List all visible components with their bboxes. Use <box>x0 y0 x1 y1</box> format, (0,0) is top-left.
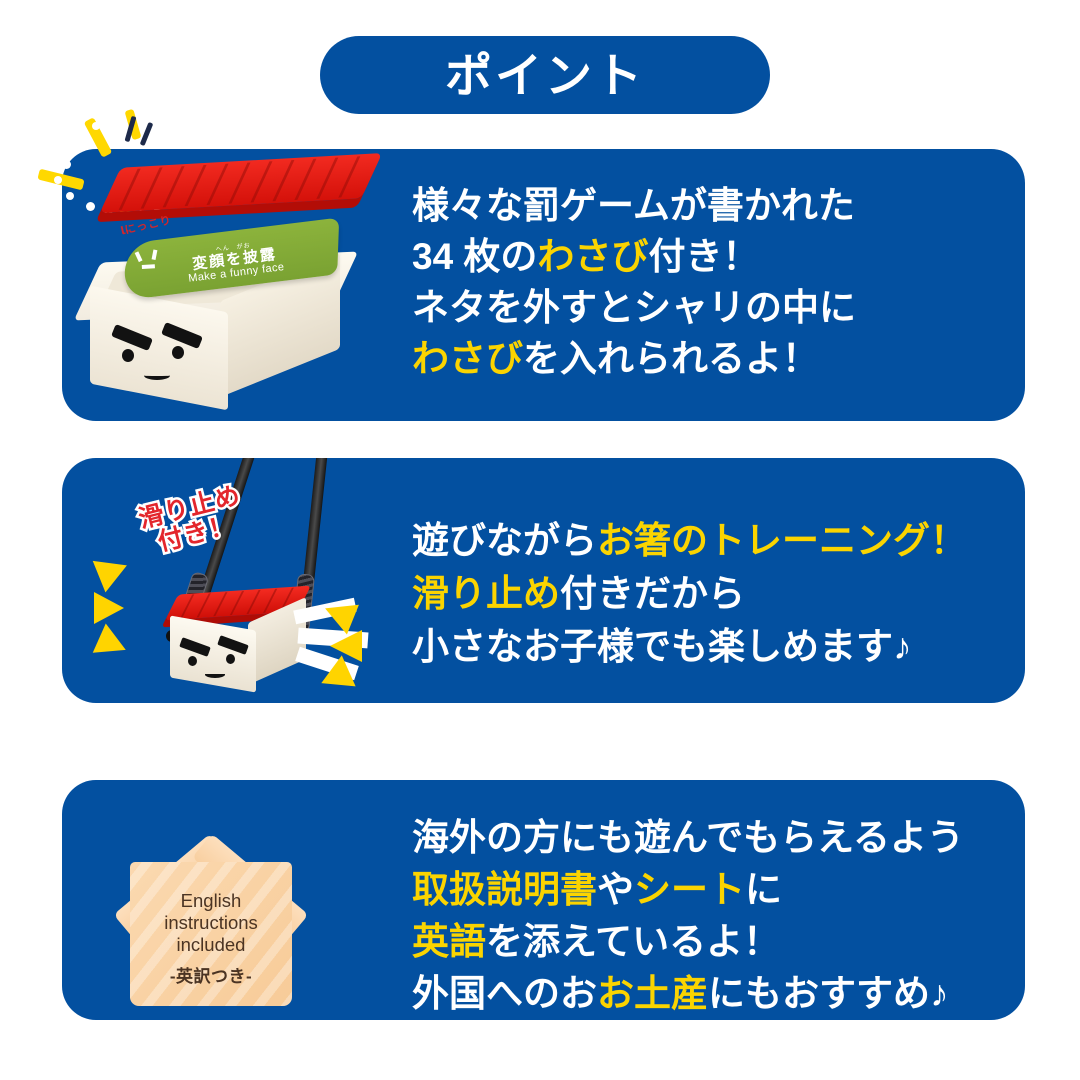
plain-phrase: や <box>597 869 634 910</box>
badge-line-2: instructions <box>130 912 292 934</box>
point-3-line-4: 外国へのおお土産にもおすすめ♪ <box>412 968 964 1020</box>
plain-phrase: 小さなお子様でも楽しめます♪ <box>412 626 912 667</box>
badge-line-1: English <box>130 890 292 912</box>
non-slip-callout: 滑り止め 付き！ <box>124 479 263 562</box>
point-1-product-photo: ﺎにっこり へん がお 変顔を披露 Make a funny face <box>62 149 402 421</box>
burst-triangle <box>93 550 134 593</box>
plain-phrase: 付き！ <box>648 236 759 277</box>
highlighted-phrase: お土産 <box>597 973 708 1014</box>
highlighted-phrase: わさび <box>537 236 648 277</box>
plain-phrase: 様々な罰ゲームが書かれた <box>412 185 855 226</box>
house-badge-icon: English instructions included -英訳つき- <box>102 794 320 1006</box>
point-2-product-photo: 滑り止め 付き！ <box>62 458 402 703</box>
highlighted-phrase: シート <box>634 869 745 910</box>
highlighted-phrase: わさび <box>412 338 523 379</box>
highlighted-phrase: お箸のトレーニング！ <box>597 520 967 561</box>
plain-phrase: に <box>745 869 782 910</box>
highlighted-phrase: 英語 <box>412 921 486 962</box>
plain-phrase: 外国へのお <box>412 973 597 1014</box>
section-title-pill: ポイント <box>320 36 770 114</box>
plain-phrase: 34 枚の <box>412 236 537 277</box>
point-3-badge-art: English instructions included -英訳つき- <box>62 780 402 1020</box>
point-1-line-1: 様々な罰ゲームが書かれた <box>412 180 856 231</box>
highlighted-phrase: 取扱説明書 <box>412 869 597 910</box>
point-3-text: 海外の方にも遊んでもらえるよう取扱説明書やシートに英語を添えているよ！外国へのお… <box>412 812 964 1020</box>
burst-triangle <box>93 623 133 664</box>
plain-phrase: 海外の方にも遊んでもらえるよう <box>412 817 964 858</box>
sushi-character-face <box>110 327 220 391</box>
burst-triangle <box>94 592 124 624</box>
point-1-line-2: 34 枚のわさび付き！ <box>412 231 856 282</box>
point-2-line-1: 遊びながらお箸のトレーニング！ <box>412 514 967 567</box>
point-2-text: 遊びながらお箸のトレーニング！滑り止め付きだから小さなお子様でも楽しめます♪ <box>412 514 967 673</box>
plain-phrase: 遊びながら <box>412 520 597 561</box>
page-title: ポイント <box>445 52 645 99</box>
point-2-line-3: 小さなお子様でも楽しめます♪ <box>412 620 967 673</box>
point-2-line-2: 滑り止め付きだから <box>412 567 967 620</box>
point-1-line-3: ネタを外すとシャリの中に <box>412 282 856 333</box>
sushi-character-face-small <box>180 640 252 684</box>
point-1-text: 様々な罰ゲームが書かれた34 枚のわさび付き！ネタを外すとシャリの中にわさびを入… <box>412 180 856 384</box>
badge-line-3: included <box>130 934 292 956</box>
infographic-canvas: ポイント <box>0 0 1080 1080</box>
plain-phrase: にもおすすめ♪ <box>708 973 949 1014</box>
point-3-line-1: 海外の方にも遊んでもらえるよう <box>412 812 964 864</box>
point-3-line-2: 取扱説明書やシートに <box>412 864 964 916</box>
plain-phrase: ネタを外すとシャリの中に <box>412 287 856 328</box>
plain-phrase: を添えているよ！ <box>486 921 780 962</box>
badge-line-4: -英訳つき- <box>130 967 292 987</box>
highlighted-phrase: 滑り止め <box>412 573 560 614</box>
house-badge-label: English instructions included -英訳つき- <box>130 890 292 988</box>
plain-phrase: 付きだから <box>560 573 745 614</box>
point-3-line-3: 英語を添えているよ！ <box>412 916 964 968</box>
point-1-line-4: わさびを入れられるよ！ <box>412 333 856 384</box>
plain-phrase: を入れられるよ！ <box>523 338 819 379</box>
